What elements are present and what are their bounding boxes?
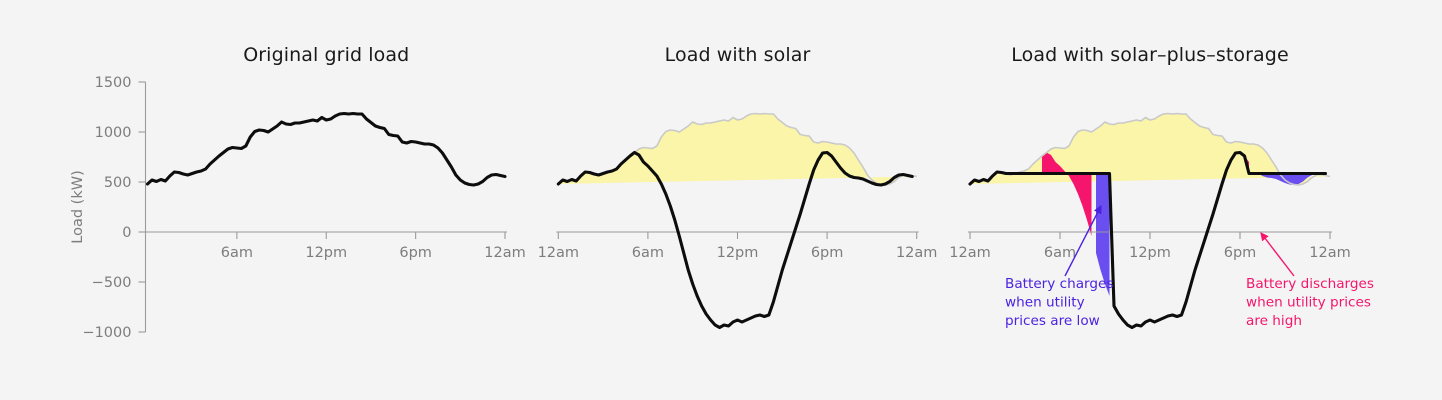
annotation-text-battery-charge: when utility [1005,295,1085,311]
annotations-layer: Battery chargeswhen utilityprices are lo… [0,0,1442,400]
annotation-text-battery-discharge: when utility prices [1246,295,1371,311]
annotation-text-battery-charge: prices are low [1005,313,1100,329]
figure-root: Original grid load150010005000−500−1000L… [0,0,1442,400]
annotation-text-battery-discharge: are high [1246,313,1302,329]
annotation-text-battery-charge: Battery charges [1005,276,1113,292]
annotation-text-battery-discharge: Battery discharges [1246,276,1374,292]
annotation-arrow-battery-discharge [1261,233,1294,276]
annotation-arrow-battery-charge [1065,206,1101,276]
